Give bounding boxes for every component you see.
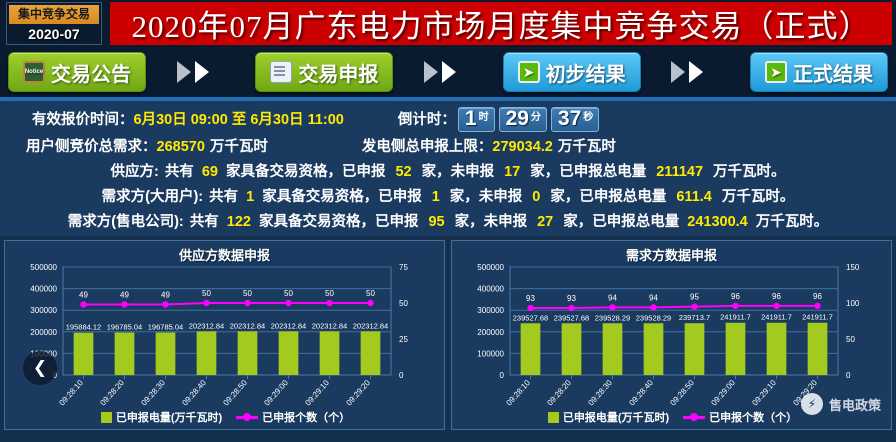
svg-text:200000: 200000: [477, 328, 504, 337]
svg-text:202312.84: 202312.84: [189, 321, 224, 330]
svg-text:09:29:10: 09:29:10: [750, 378, 778, 408]
retailer-t2: 家具备交易资格，已申报: [259, 212, 419, 232]
supplier-declared-count: 52: [395, 162, 411, 182]
legend-label-count: 已申报个数（个）: [709, 409, 797, 425]
step-button-preliminary-result[interactable]: ➤ 初步结果: [503, 52, 641, 92]
charts-area: 供应方数据申报 01000002000003000004000005000000…: [0, 236, 896, 432]
countdown-hours-unit: 时: [477, 108, 489, 130]
svg-text:196785.04: 196785.04: [107, 322, 142, 331]
step-button-trade-announcement[interactable]: Notice 交易公告: [8, 52, 146, 92]
retailer-t3: 家，未申报: [455, 212, 528, 232]
legend-swatch-line-icon: [683, 416, 705, 419]
svg-text:202312.84: 202312.84: [312, 321, 347, 330]
svg-text:400000: 400000: [477, 285, 504, 294]
svg-text:0: 0: [399, 371, 404, 380]
legend-swatch-bar-icon: [548, 412, 559, 423]
large-user-declared-energy: 611.4: [676, 187, 712, 207]
go-arrow-icon: ➤: [518, 61, 540, 83]
supplier-undeclared-count: 17: [504, 162, 520, 182]
large-user-t4: 家，已申报总电量: [550, 187, 666, 207]
step-label-2: 初步结果: [546, 58, 626, 87]
svg-text:150: 150: [846, 263, 860, 272]
svg-text:09:28:40: 09:28:40: [180, 378, 208, 408]
svg-text:96: 96: [813, 292, 822, 301]
svg-text:241911.7: 241911.7: [720, 313, 751, 322]
quote-time-row: 有效报价时间： 6月30日 09:00 至 6月30日 11:00 倒计时： 1…: [0, 107, 896, 132]
retailer-undeclared-count: 27: [537, 212, 553, 232]
step-label-1: 交易申报: [298, 58, 378, 87]
circle-logo-icon: ⚡: [801, 393, 823, 415]
svg-text:241911.7: 241911.7: [761, 313, 792, 322]
chart-demand-declaration: 需求方数据申报 01000002000003000004000005000000…: [451, 240, 892, 430]
svg-text:09:28:20: 09:28:20: [545, 378, 573, 408]
svg-text:0: 0: [500, 371, 505, 380]
svg-text:09:28:10: 09:28:10: [504, 378, 532, 408]
watermark: ⚡ 售电政策: [801, 393, 881, 415]
step-button-trade-declaration[interactable]: 交易申报: [255, 52, 393, 92]
demand-total-unit: 万千瓦时: [210, 137, 268, 157]
step-label-3: 正式结果: [793, 58, 873, 87]
retailer-name: 需求方(售电公司):: [68, 212, 184, 232]
table-row: 需求方(大用户): 共有 1 家具备交易资格，已申报 1 家，未申报 0 家，已…: [0, 187, 896, 207]
svg-text:94: 94: [649, 293, 658, 302]
large-user-t2: 家具备交易资格，已申报: [262, 187, 422, 207]
svg-text:50: 50: [325, 289, 334, 298]
step-arrow-1: [146, 59, 255, 85]
legend-item-energy[interactable]: 已申报电量(万千瓦时): [548, 409, 669, 425]
title-bar: 集中竞争交易 2020-07 2020年07月广东电力市场月度集中竞争交易（正式…: [0, 0, 896, 47]
countdown-minutes: 29 分: [499, 107, 547, 132]
svg-text:202312.84: 202312.84: [353, 321, 388, 330]
prev-arrow-button[interactable]: ❮: [23, 351, 57, 385]
svg-text:300000: 300000: [30, 306, 57, 315]
large-user-t1: 共有: [209, 187, 238, 207]
svg-text:96: 96: [772, 292, 781, 301]
legend-item-count[interactable]: 已申报个数（个）: [236, 409, 350, 425]
svg-text:239528.29: 239528.29: [636, 313, 671, 322]
countdown-seconds-unit: 秒: [581, 108, 593, 130]
trade-badge-type: 集中竞争交易: [9, 5, 99, 24]
gen-cap-value: 279034.2: [492, 137, 552, 157]
svg-text:09:29:20: 09:29:20: [344, 378, 372, 408]
svg-text:09:29:00: 09:29:00: [709, 378, 737, 408]
legend-swatch-line-icon: [236, 416, 258, 419]
trade-badge-period: 2020-07: [9, 24, 99, 45]
svg-text:200000: 200000: [30, 328, 57, 337]
retailer-total-count: 122: [227, 212, 251, 232]
svg-text:93: 93: [567, 294, 576, 303]
go-arrow-icon: ➤: [765, 61, 787, 83]
gen-cap-label: 发电侧总申报上限：: [362, 137, 493, 157]
countdown-hours: 1 时: [458, 107, 495, 132]
supplier-t5: 万千瓦时。: [713, 162, 786, 182]
svg-text:09:28:40: 09:28:40: [627, 378, 655, 408]
trade-badge: 集中竞争交易 2020-07: [6, 2, 102, 45]
svg-text:50: 50: [284, 289, 293, 298]
svg-text:09:28:50: 09:28:50: [221, 378, 249, 408]
svg-text:239713.7: 239713.7: [679, 313, 710, 322]
svg-text:239528.29: 239528.29: [595, 313, 630, 322]
gen-cap-unit: 万千瓦时: [558, 137, 616, 157]
notice-board-icon: Notice: [23, 61, 45, 83]
supplier-name: 供应方:: [110, 162, 158, 182]
chevron-left-icon: ❮: [33, 358, 47, 378]
supplier-total-count: 69: [202, 162, 218, 182]
svg-text:95: 95: [690, 293, 699, 302]
svg-text:09:29:10: 09:29:10: [303, 378, 331, 408]
large-user-t5: 万千瓦时。: [722, 187, 795, 207]
table-row: 供应方: 共有 69 家具备交易资格，已申报 52 家，未申报 17 家，已申报…: [0, 162, 896, 182]
watermark-text: 售电政策: [829, 395, 881, 414]
step-arrow-2: [393, 59, 502, 85]
countdown-seconds: 37 秒: [551, 107, 599, 132]
svg-text:49: 49: [120, 290, 129, 299]
svg-text:500000: 500000: [477, 263, 504, 272]
svg-text:500000: 500000: [30, 263, 57, 272]
svg-text:49: 49: [79, 290, 88, 299]
page-title-text: 2020年07月广东电力市场月度集中竞争交易（正式）: [132, 1, 871, 46]
countdown-hours-value: 1: [465, 108, 477, 130]
svg-text:93: 93: [526, 294, 535, 303]
svg-text:100000: 100000: [477, 349, 504, 358]
svg-text:0: 0: [846, 371, 851, 380]
chart-plot-supplier: 0100000200000300000400000500000025507519…: [5, 241, 446, 431]
supplier-t1: 共有: [165, 162, 194, 182]
large-user-undeclared-count: 0: [532, 187, 540, 207]
retailer-t4: 家，已申报总电量: [563, 212, 679, 232]
svg-text:09:28:30: 09:28:30: [139, 378, 167, 408]
supplier-t2: 家具备交易资格，已申报: [226, 162, 386, 182]
svg-text:202312.84: 202312.84: [230, 321, 265, 330]
svg-text:195884.12: 195884.12: [66, 323, 101, 332]
svg-text:100: 100: [846, 299, 860, 308]
svg-text:75: 75: [399, 263, 408, 272]
svg-text:09:28:50: 09:28:50: [668, 378, 696, 408]
svg-text:25: 25: [399, 335, 408, 344]
svg-text:09:28:10: 09:28:10: [57, 378, 85, 408]
info-panel: 有效报价时间： 6月30日 09:00 至 6月30日 11:00 倒计时： 1…: [0, 101, 896, 236]
large-user-declared-count: 1: [432, 187, 440, 207]
svg-text:400000: 400000: [30, 285, 57, 294]
svg-text:49: 49: [161, 290, 170, 299]
legend-item-energy[interactable]: 已申报电量(万千瓦时): [101, 409, 222, 425]
legend-swatch-bar-icon: [101, 412, 112, 423]
svg-text:09:29:00: 09:29:00: [262, 378, 290, 408]
svg-text:09:28:30: 09:28:30: [586, 378, 614, 408]
svg-text:94: 94: [608, 293, 617, 302]
svg-text:50: 50: [243, 289, 252, 298]
step-nav: Notice 交易公告 交易申报 ➤ 初步结果 ➤ 正式结果: [0, 47, 896, 97]
svg-text:241911.7: 241911.7: [802, 313, 833, 322]
large-user-name: 需求方(大用户):: [102, 187, 204, 207]
supplier-t3: 家，未申报: [422, 162, 495, 182]
demand-total-value: 268570: [157, 137, 205, 157]
countdown-minutes-unit: 分: [529, 108, 541, 130]
large-user-total-count: 1: [246, 187, 254, 207]
step-arrow-3: [641, 59, 750, 85]
document-pencil-icon: [270, 61, 292, 83]
totals-row: 用户侧竞价总需求： 268570 万千瓦时 发电侧总申报上限： 279034.2…: [0, 137, 896, 157]
svg-text:50: 50: [399, 299, 408, 308]
retailer-t5: 万千瓦时。: [756, 212, 829, 232]
supplier-t4: 家，已申报总电量: [530, 162, 646, 182]
svg-text:50: 50: [846, 335, 855, 344]
supplier-declared-energy: 211147: [656, 162, 703, 182]
chart-supplier-declaration: 供应方数据申报 01000002000003000004000005000000…: [4, 240, 445, 430]
retailer-declared-energy: 241300.4: [687, 212, 747, 232]
svg-text:96: 96: [731, 292, 740, 301]
countdown-minutes-value: 29: [506, 108, 529, 130]
retailer-t1: 共有: [190, 212, 219, 232]
step-button-final-result[interactable]: ➤ 正式结果: [750, 52, 888, 92]
demand-total-label: 用户侧竞价总需求：: [26, 137, 157, 157]
legend-label-count: 已申报个数（个）: [262, 409, 350, 425]
table-row: 需求方(售电公司): 共有 122 家具备交易资格，已申报 95 家，未申报 2…: [0, 212, 896, 232]
svg-text:196785.04: 196785.04: [148, 322, 183, 331]
svg-text:239527.68: 239527.68: [554, 313, 589, 322]
svg-text:202312.84: 202312.84: [271, 321, 306, 330]
quote-time-label: 有效报价时间：: [32, 110, 134, 130]
svg-text:50: 50: [202, 289, 211, 298]
large-user-t3: 家，未申报: [450, 187, 523, 207]
retailer-declared-count: 95: [428, 212, 444, 232]
page-title: 2020年07月广东电力市场月度集中竞争交易（正式）: [110, 2, 892, 45]
chart-legend-supplier: 已申报电量(万千瓦时) 已申报个数（个）: [5, 409, 446, 425]
svg-text:50: 50: [366, 289, 375, 298]
svg-text:300000: 300000: [477, 306, 504, 315]
svg-text:09:28:20: 09:28:20: [98, 378, 126, 408]
step-label-0: 交易公告: [51, 58, 131, 87]
legend-label-energy: 已申报电量(万千瓦时): [563, 409, 669, 425]
quote-time-value: 6月30日 09:00 至 6月30日 11:00: [134, 110, 344, 130]
countdown: 1 时 29 分 37 秒: [458, 107, 599, 132]
legend-label-energy: 已申报电量(万千瓦时): [116, 409, 222, 425]
countdown-label: 倒计时：: [398, 110, 456, 130]
countdown-seconds-value: 37: [558, 108, 581, 130]
legend-item-count[interactable]: 已申报个数（个）: [683, 409, 797, 425]
svg-text:239527.68: 239527.68: [513, 313, 548, 322]
